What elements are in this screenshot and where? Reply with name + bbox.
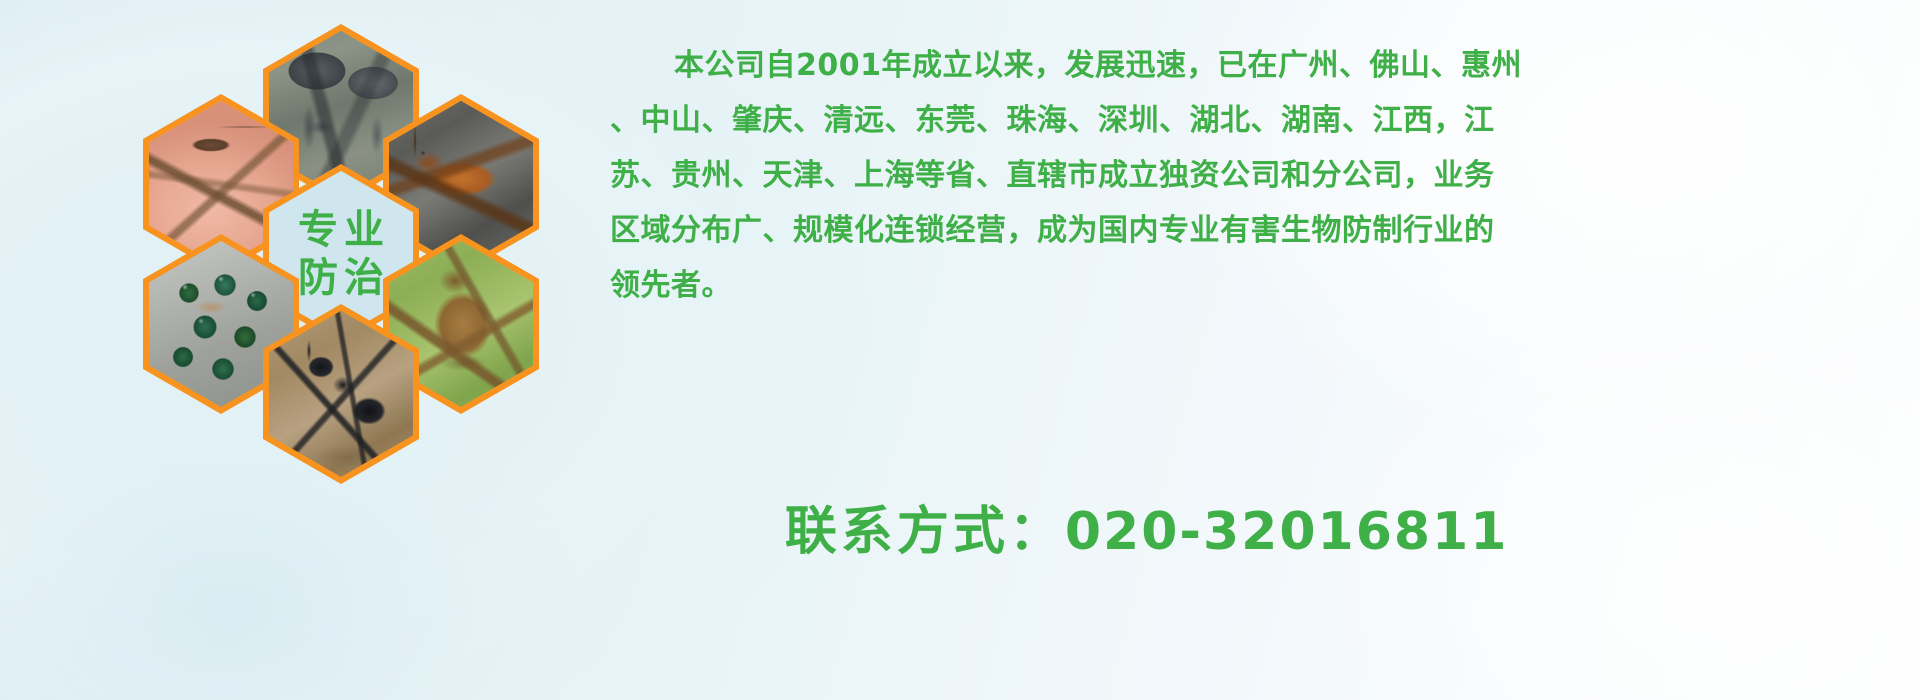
contact-block: 联系方式：020-32016811 159-1588-1110 — [610, 400, 1900, 700]
hexagon-photo-cluster: 专业 防治 — [95, 10, 595, 570]
about-paragraph: 本公司自2001年成立以来，发展迅速，已在广州、佛山、惠州 、中山、肇庆、清远、… — [610, 38, 1900, 313]
about-line: 领先者。 — [610, 258, 1900, 313]
center-title-line-1: 专业 — [292, 209, 390, 251]
about-line: 区域分布广、规模化连锁经营，成为国内专业有害生物防制行业的 — [610, 203, 1900, 258]
contact-secondary-row: 159-1588-1110 — [610, 664, 1900, 700]
ant-photo — [269, 311, 413, 477]
contact-primary-row: 联系方式：020-32016811 — [610, 400, 1900, 664]
about-line: 本公司自2001年成立以来，发展迅速，已在广州、佛山、惠州 — [610, 38, 1900, 93]
center-title-line-2: 防治 — [292, 257, 390, 299]
banner-content: 本公司自2001年成立以来，发展迅速，已在广州、佛山、惠州 、中山、肇庆、清远、… — [610, 0, 1910, 700]
promo-banner: 专业 防治 本公司自2001年成立以来，发展迅速，已在广州、佛山、惠州 、中山、… — [0, 0, 1920, 700]
contact-label: 联系方式： — [785, 502, 1065, 562]
about-line: 、中山、肇庆、清远、东莞、珠海、深圳、湖北、湖南、江西，江 — [610, 93, 1900, 148]
ant-image — [269, 311, 413, 477]
phone-primary[interactable]: 020-32016811 — [1065, 502, 1509, 562]
about-line: 苏、贵州、天津、上海等省、直辖市成立独资公司和分公司，业务 — [610, 148, 1900, 203]
